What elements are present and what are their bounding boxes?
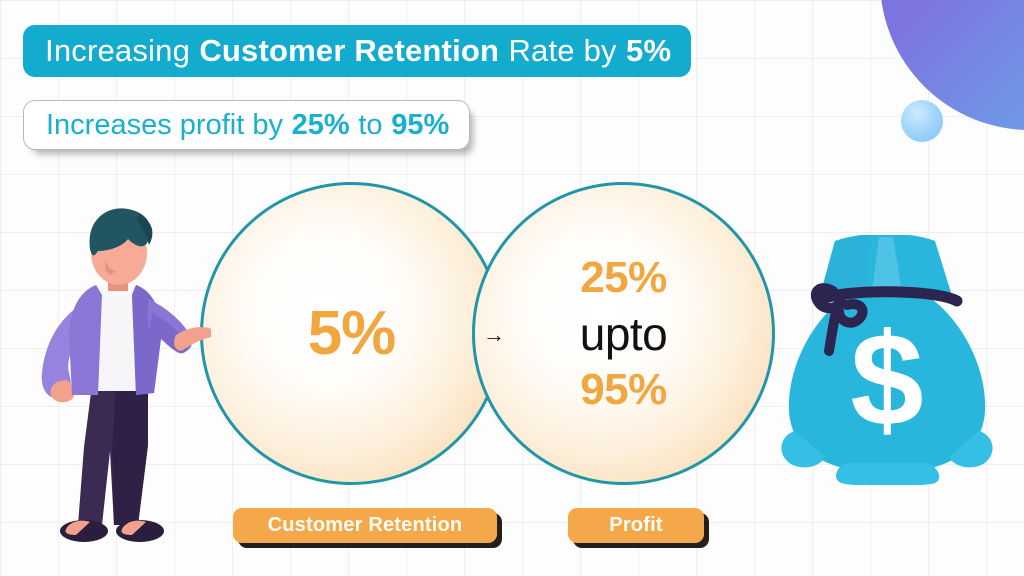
money-bag-illustration: $ bbox=[775, 235, 1000, 485]
customer-retention-value: 5% bbox=[308, 303, 396, 365]
label-profit-text: Profit bbox=[609, 514, 662, 537]
headline-line1-seg2: Customer Retention bbox=[199, 33, 499, 69]
venn-circle-customer-retention: 5% bbox=[200, 182, 503, 485]
headline-line2-seg3: to bbox=[358, 109, 382, 142]
headline-banner-primary: IncreasingCustomer RetentionRate by5% bbox=[23, 25, 691, 77]
dollar-sign-glyph: $ bbox=[850, 306, 923, 453]
label-customer-retention-text: Customer Retention bbox=[268, 514, 463, 537]
profit-upto-label: upto bbox=[580, 311, 668, 357]
label-customer-retention: Customer Retention bbox=[233, 508, 497, 543]
arrow-right-icon: → bbox=[483, 324, 505, 346]
headline-line1-seg4: 5% bbox=[626, 33, 671, 69]
decorative-gradient-circle bbox=[880, 0, 1024, 130]
venn-circle-profit: 25% upto 95% bbox=[472, 182, 775, 485]
profit-lower-value: 95% bbox=[580, 368, 667, 412]
profit-upper-value: 25% bbox=[580, 256, 667, 300]
person-illustration bbox=[36, 195, 211, 550]
headline-line1-seg3: Rate by bbox=[508, 33, 616, 69]
decorative-small-circle bbox=[901, 100, 943, 142]
label-profit: Profit bbox=[568, 508, 704, 543]
infographic-canvas: IncreasingCustomer RetentionRate by5% In… bbox=[0, 0, 1024, 576]
headline-line1-seg1: Increasing bbox=[45, 33, 190, 69]
headline-line2-seg4: 95% bbox=[391, 109, 449, 142]
headline-line2-seg2: 25% bbox=[292, 109, 350, 142]
headline-banner-secondary: Increases profit by25%to95% bbox=[23, 100, 470, 150]
headline-line2-seg1: Increases profit by bbox=[46, 109, 283, 142]
